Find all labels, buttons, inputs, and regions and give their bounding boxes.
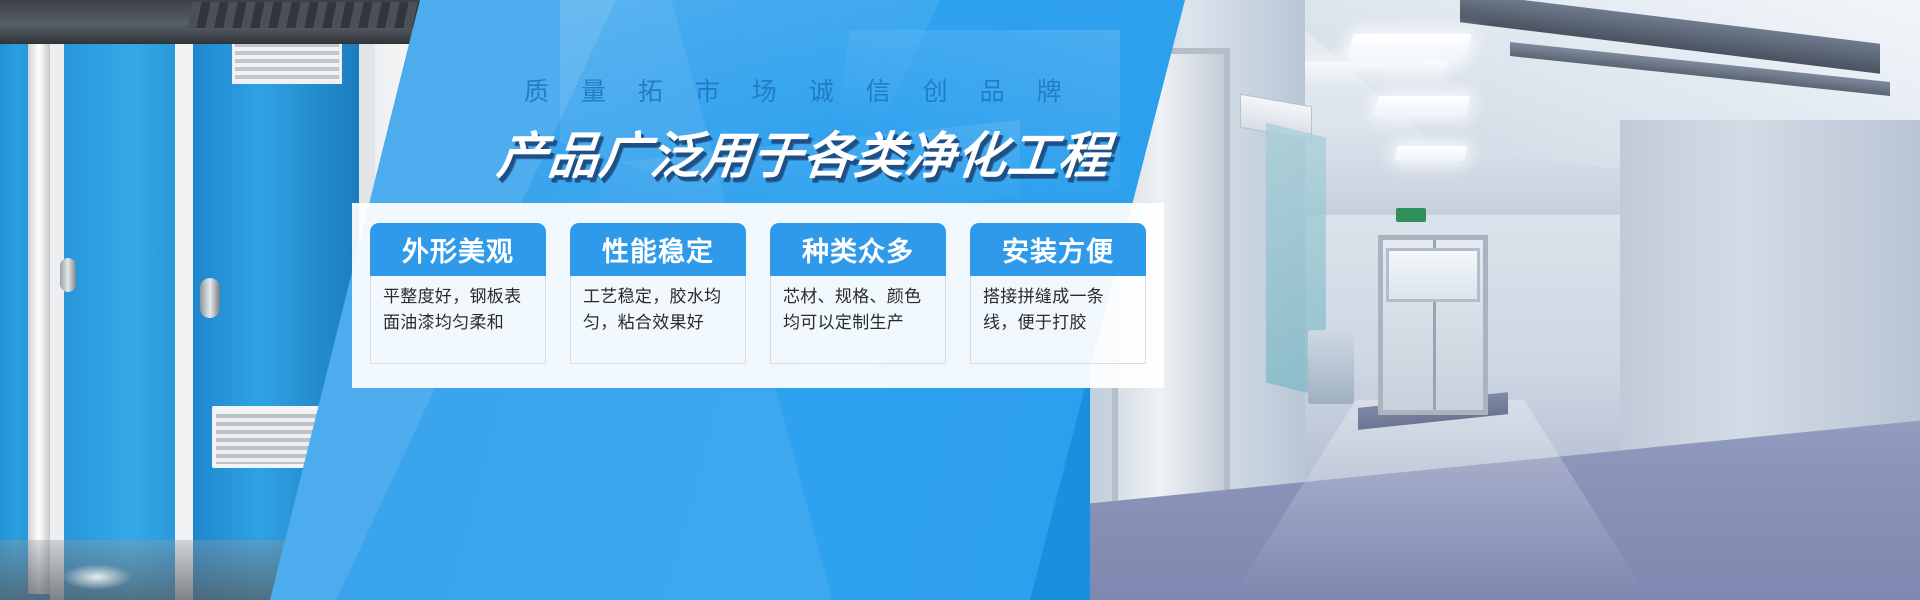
cabin-frame — [28, 14, 52, 594]
ceiling-light — [1394, 146, 1467, 161]
feature-card-1: 外形美观 平整度好，钢板表面油漆均匀柔和 — [370, 223, 546, 364]
feature-card-text: 工艺稳定，胶水均匀，粘合效果好 — [570, 276, 746, 364]
feature-card-title: 安装方便 — [970, 223, 1146, 276]
feature-card-panel: 外形美观 平整度好，钢板表面油漆均匀柔和 性能稳定 工艺稳定，胶水均匀，粘合效果… — [352, 203, 1164, 388]
feature-card-text: 芯材、规格、颜色均可以定制生产 — [770, 276, 946, 364]
floor-highlight — [62, 564, 132, 590]
feature-card-2: 性能稳定 工艺稳定，胶水均匀，粘合效果好 — [570, 223, 746, 364]
ceiling-light — [1374, 96, 1471, 116]
door-handle — [60, 258, 76, 292]
feature-card-title: 性能稳定 — [570, 223, 746, 276]
door-window — [1386, 248, 1480, 302]
door-handle — [200, 278, 220, 318]
feature-card-title: 外形美观 — [370, 223, 546, 276]
corridor-equipment — [1308, 330, 1354, 404]
photo-cleanroom-corridor — [1090, 0, 1920, 600]
ceiling-light — [1293, 62, 1450, 74]
banner-tagline: 质 量 拓 市 场 诚 信 创 品 牌 — [524, 72, 1064, 108]
feature-card-4: 安装方便 搭接拼缝成一条线，便于打胶 — [970, 223, 1146, 364]
feature-card-text: 搭接拼缝成一条线，便于打胶 — [970, 276, 1146, 364]
feature-card-3: 种类众多 芯材、规格、颜色均可以定制生产 — [770, 223, 946, 364]
banner-headline: 产品广泛用于各类净化工程 — [494, 116, 1102, 188]
ceiling-light — [1346, 34, 1471, 60]
feature-card-title: 种类众多 — [770, 223, 946, 276]
feature-card-text: 平整度好，钢板表面油漆均匀柔和 — [370, 276, 546, 364]
promo-banner: 质 量 拓 市 场 诚 信 创 品 牌 产品广泛用于各类净化工程 外形美观 平整… — [0, 0, 1920, 600]
exit-sign — [1396, 208, 1426, 222]
